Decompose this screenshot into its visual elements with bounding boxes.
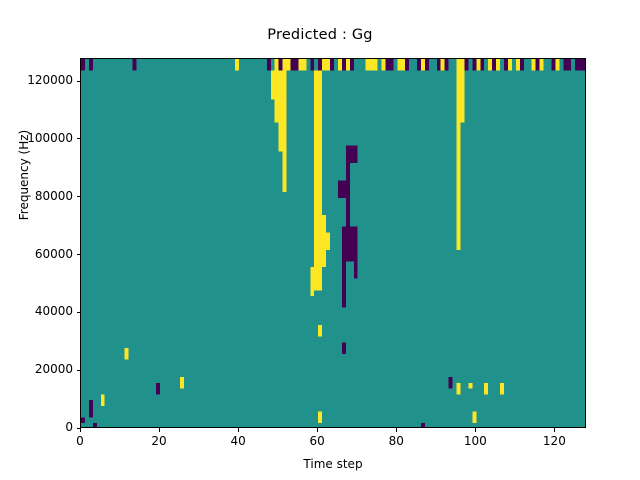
y-tick-label: 0: [65, 420, 73, 434]
y-tick-label: 80000: [35, 189, 73, 203]
y-tick-mark: [77, 138, 81, 139]
y-tick-mark: [77, 254, 81, 255]
matplotlib-figure: Predicted : Gg Frequency (Hz) Time step …: [0, 0, 640, 480]
spectrogram-heatmap: [81, 59, 586, 428]
y-tick-label: 60000: [35, 247, 73, 261]
x-tick-mark: [317, 428, 318, 432]
y-tick-label: 40000: [35, 304, 73, 318]
y-tick-mark: [77, 196, 81, 197]
x-tick-label: 0: [50, 434, 110, 448]
y-tick-mark: [77, 81, 81, 82]
x-tick-label: 60: [287, 434, 347, 448]
x-axis-label: Time step: [80, 457, 586, 471]
y-tick-mark: [77, 370, 81, 371]
x-tick-mark: [159, 428, 160, 432]
x-tick-mark: [238, 428, 239, 432]
y-tick-label: 120000: [27, 73, 73, 87]
spectrogram-axes: [80, 58, 586, 428]
x-tick-label: 100: [445, 434, 505, 448]
x-tick-mark: [80, 428, 81, 432]
x-tick-label: 120: [524, 434, 584, 448]
y-tick-label: 100000: [27, 131, 73, 145]
x-tick-mark: [554, 428, 555, 432]
x-tick-mark: [475, 428, 476, 432]
y-tick-label: 20000: [35, 362, 73, 376]
x-tick-label: 40: [208, 434, 268, 448]
x-tick-mark: [396, 428, 397, 432]
y-tick-mark: [77, 312, 81, 313]
x-tick-label: 20: [129, 434, 189, 448]
x-tick-label: 80: [366, 434, 426, 448]
page-title: Predicted : Gg: [0, 27, 640, 43]
